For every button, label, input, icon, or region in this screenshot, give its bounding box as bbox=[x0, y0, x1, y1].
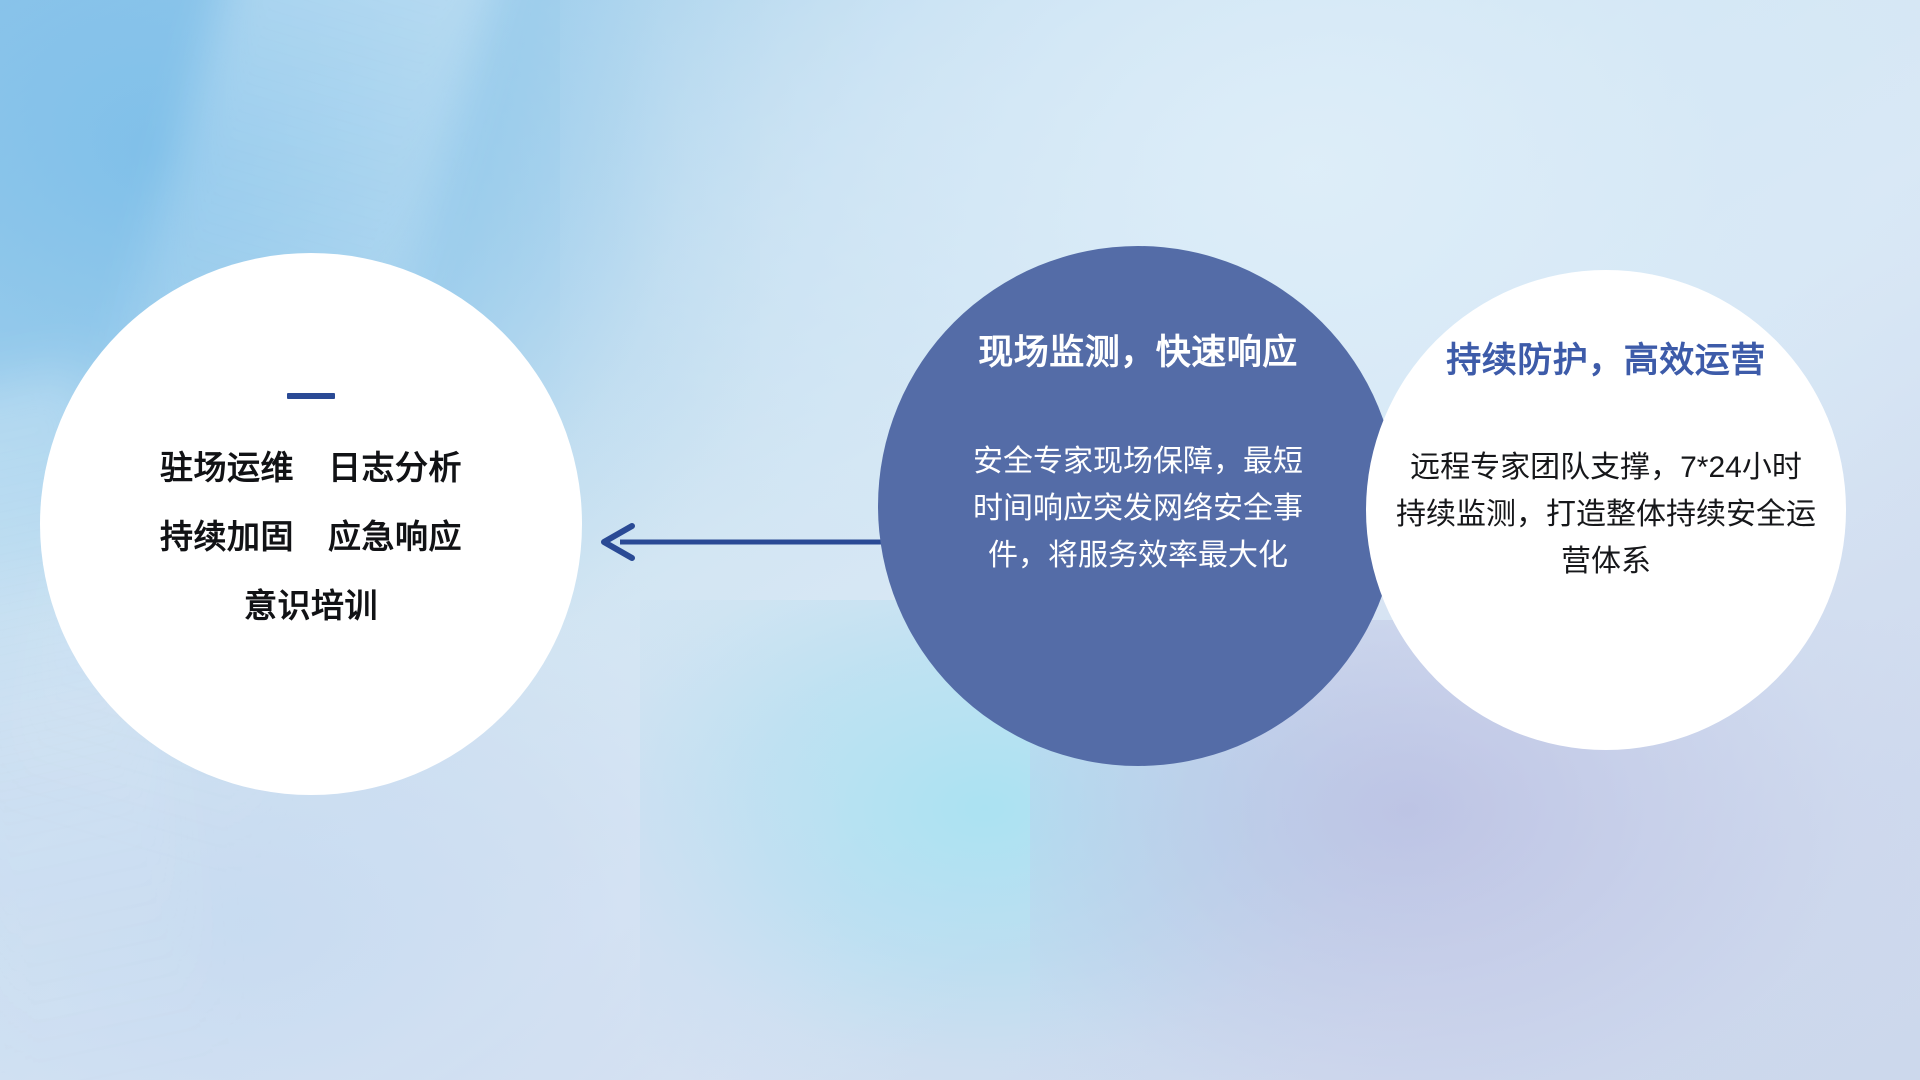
left-pointing-arrow-icon bbox=[594, 520, 892, 564]
node-title: 持续防护，高效运营 bbox=[1446, 332, 1766, 383]
keyword-item: 驻场运维 bbox=[160, 451, 294, 484]
node-body: 安全专家现场保障，最短时间响应突发网络安全事件，将服务效率最大化 bbox=[973, 439, 1303, 579]
divider-dash bbox=[287, 393, 335, 399]
keyword-row: 意识培训 bbox=[244, 589, 378, 622]
node-body: 远程专家团队支撑，7*24小时持续监测，打造整体持续安全运营体系 bbox=[1396, 445, 1816, 585]
node-capabilities[interactable]: 驻场运维 日志分析 持续加固 应急响应 意识培训 bbox=[40, 253, 582, 795]
keyword-item: 应急响应 bbox=[328, 520, 462, 553]
keyword-item: 日志分析 bbox=[328, 451, 462, 484]
node-title: 现场监测，快速响应 bbox=[978, 324, 1298, 375]
diagram-canvas: 驻场运维 日志分析 持续加固 应急响应 意识培训 现场监测，快速响应 安全专家现… bbox=[0, 0, 1920, 1080]
keyword-item: 意识培训 bbox=[244, 589, 378, 622]
node-continuous-protection[interactable]: 持续防护，高效运营 远程专家团队支撑，7*24小时持续监测，打造整体持续安全运营… bbox=[1366, 270, 1846, 750]
keyword-item: 持续加固 bbox=[160, 520, 294, 553]
keyword-row: 持续加固 应急响应 bbox=[160, 520, 462, 553]
keyword-row: 驻场运维 日志分析 bbox=[160, 451, 462, 484]
node-onsite-monitoring[interactable]: 现场监测，快速响应 安全专家现场保障，最短时间响应突发网络安全事件，将服务效率最… bbox=[878, 246, 1398, 766]
